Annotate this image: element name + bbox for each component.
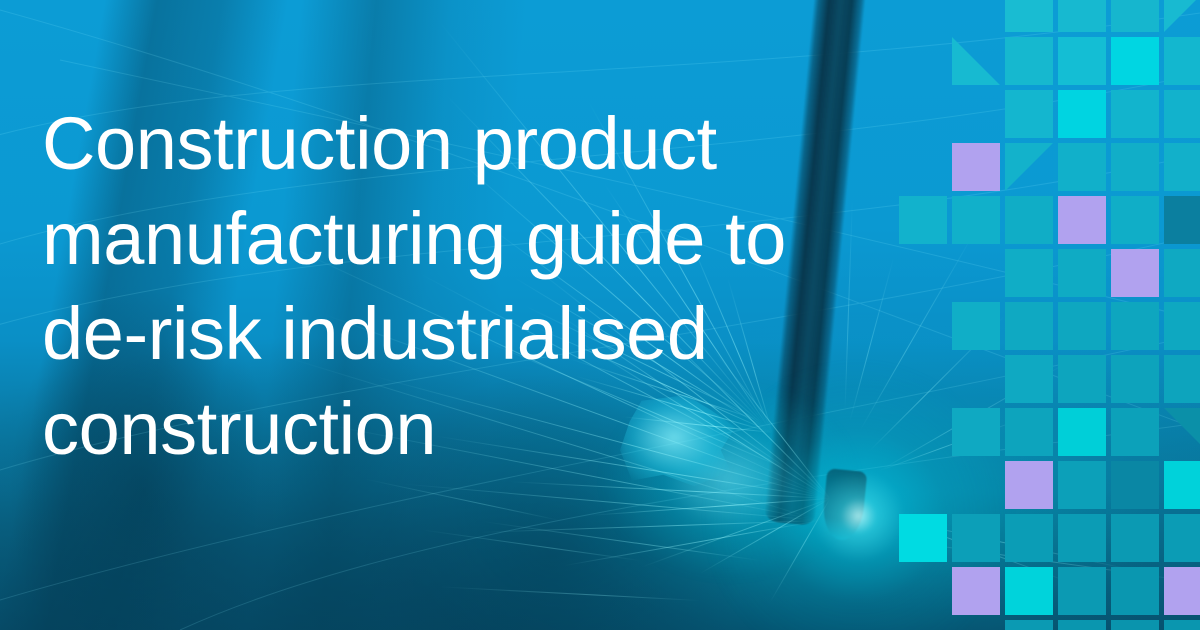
- mosaic-cell: [1005, 302, 1053, 350]
- mosaic-cell: [1164, 90, 1200, 138]
- mosaic-cell: [1058, 567, 1106, 615]
- mosaic-cell: [1005, 143, 1053, 191]
- mosaic-cell: [1058, 143, 1106, 191]
- mosaic-cell: [1111, 408, 1159, 456]
- page-title-line-1: Construction product: [42, 96, 922, 191]
- mosaic-cell: [1111, 567, 1159, 615]
- mosaic-cell: [952, 196, 1000, 244]
- mosaic-cell: [952, 37, 1000, 85]
- mosaic-cell: [1111, 37, 1159, 85]
- mosaic-cell: [1164, 249, 1200, 297]
- mosaic-cell: [1164, 143, 1200, 191]
- mosaic-cell: [1005, 408, 1053, 456]
- mosaic-cell: [1111, 249, 1159, 297]
- mosaic-cell: [1058, 90, 1106, 138]
- mosaic-cell: [1058, 0, 1106, 32]
- mosaic-cell: [1005, 355, 1053, 403]
- mosaic-cell: [952, 143, 1000, 191]
- mosaic-cell: [1058, 514, 1106, 562]
- mosaic-cell: [1164, 620, 1200, 630]
- mosaic-cell: [1164, 408, 1200, 456]
- mosaic-cell: [1005, 249, 1053, 297]
- mosaic-cell: [1111, 143, 1159, 191]
- mosaic-cell: [1058, 355, 1106, 403]
- page-title-line-3: de-risk industrialised: [42, 286, 922, 381]
- mosaic-cell: [1005, 90, 1053, 138]
- mosaic-cell: [1005, 514, 1053, 562]
- mosaic-cell: [1058, 37, 1106, 85]
- mosaic-cell: [1058, 620, 1106, 630]
- mosaic-cell: [952, 514, 1000, 562]
- mosaic-cell: [1111, 514, 1159, 562]
- mosaic-cell: [952, 567, 1000, 615]
- mosaic-cell: [1164, 461, 1200, 509]
- mosaic-cell: [1164, 355, 1200, 403]
- page-title-line-2: manufacturing guide to: [42, 191, 922, 286]
- mosaic-cell: [1058, 196, 1106, 244]
- promo-banner: Construction productmanufacturing guide …: [0, 0, 1200, 630]
- mosaic-cell: [1164, 196, 1200, 244]
- mosaic-cell: [1111, 90, 1159, 138]
- mosaic-cell: [1164, 514, 1200, 562]
- mosaic-cell: [1111, 196, 1159, 244]
- mosaic-cell: [1005, 461, 1053, 509]
- mosaic-cell: [1005, 196, 1053, 244]
- mosaic-cell: [1164, 0, 1200, 32]
- mosaic-cell: [1058, 249, 1106, 297]
- mosaic-cell: [1005, 0, 1053, 32]
- mosaic-cell: [952, 408, 1000, 456]
- mosaic-cell: [1111, 302, 1159, 350]
- mosaic-cell: [1111, 461, 1159, 509]
- mosaic-cell: [1111, 355, 1159, 403]
- mosaic-cell: [1058, 408, 1106, 456]
- mosaic-cell: [1111, 0, 1159, 32]
- mosaic-cell: [1005, 620, 1053, 630]
- mosaic-cell: [1164, 302, 1200, 350]
- mosaic-cell: [1058, 302, 1106, 350]
- mosaic-cell: [1058, 461, 1106, 509]
- mosaic-cell: [1005, 37, 1053, 85]
- mosaic-cell: [1164, 37, 1200, 85]
- page-title: Construction productmanufacturing guide …: [42, 96, 922, 476]
- mosaic-cell: [952, 302, 1000, 350]
- mosaic-cell: [899, 514, 947, 562]
- mosaic-cell: [1164, 567, 1200, 615]
- mosaic-cell: [1111, 620, 1159, 630]
- mosaic-cell: [1005, 567, 1053, 615]
- page-title-line-4: construction: [42, 381, 922, 476]
